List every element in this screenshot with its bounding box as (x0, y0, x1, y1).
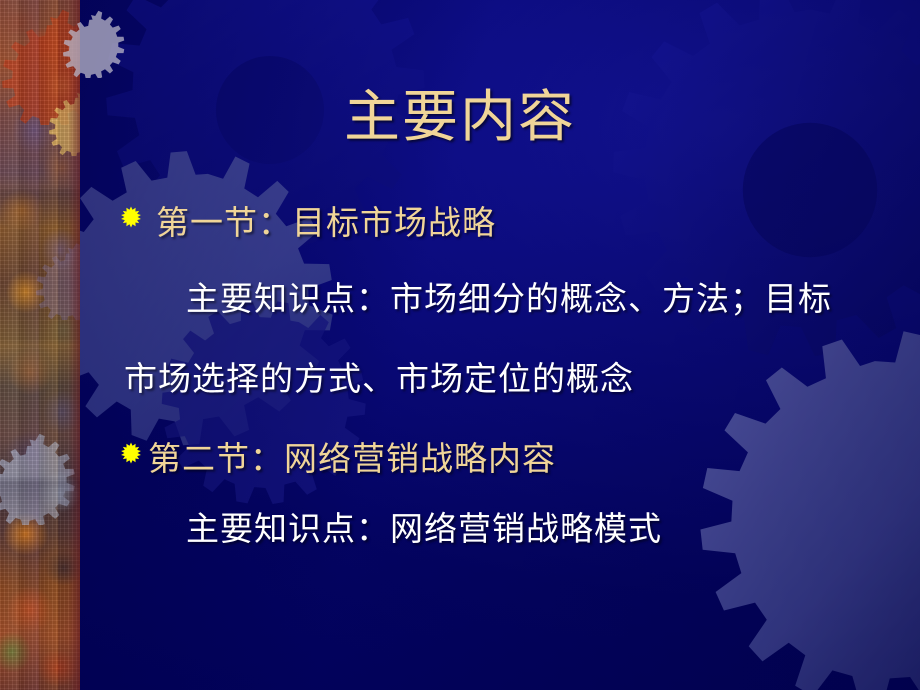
bullet-line-1: 第一节：目标市场战略 (156, 196, 496, 244)
star-bullet-icon (120, 206, 142, 228)
slide-title: 主要内容 (0, 72, 920, 153)
sub-line-2: 市场选择的方式、市场定位的概念 (124, 352, 634, 400)
bullet-line-2: 第二节：网络营销战略内容 (148, 432, 556, 480)
slide-canvas: 主要内容 第一节：目标市场战略 主要知识点：市场细分的概念、方法；目标 市场选择… (0, 0, 920, 690)
star-bullet-icon (120, 442, 142, 464)
sub-line-1: 主要知识点：市场细分的概念、方法；目标 (186, 272, 832, 320)
sub-line-3: 主要知识点：网络营销战略模式 (186, 502, 662, 550)
